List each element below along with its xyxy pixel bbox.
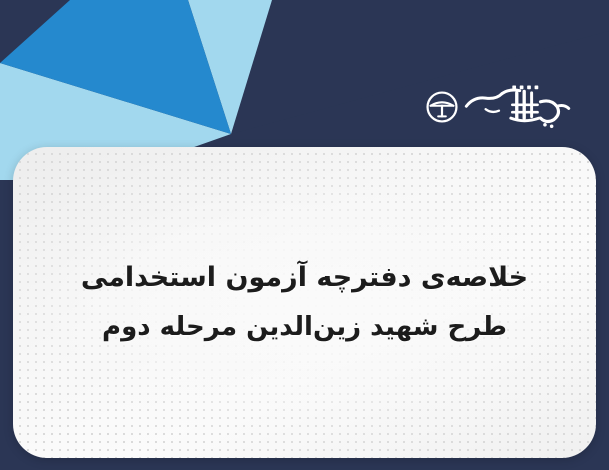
poster-canvas: خلاصه‌ی دفترچه آزمون استخدامی طرح شهید ز…: [0, 0, 609, 470]
persian-calligraphy-wordmark-icon: [463, 84, 575, 130]
content-card-body: خلاصه‌ی دفترچه آزمون استخدامی طرح شهید ز…: [13, 147, 596, 458]
content-card: خلاصه‌ی دفترچه آزمون استخدامی طرح شهید ز…: [13, 147, 596, 458]
poster-title-line-1: خلاصه‌ی دفترچه آزمون استخدامی: [81, 260, 528, 296]
brand-logo: [425, 78, 585, 136]
poster-title-line-2: طرح شهید زین‌الدین مرحله دوم: [102, 310, 507, 345]
circle-emblem-icon: [425, 90, 459, 124]
light-blue-triangle-upper: [188, 0, 272, 134]
medium-blue-parallelogram: [0, 0, 231, 134]
